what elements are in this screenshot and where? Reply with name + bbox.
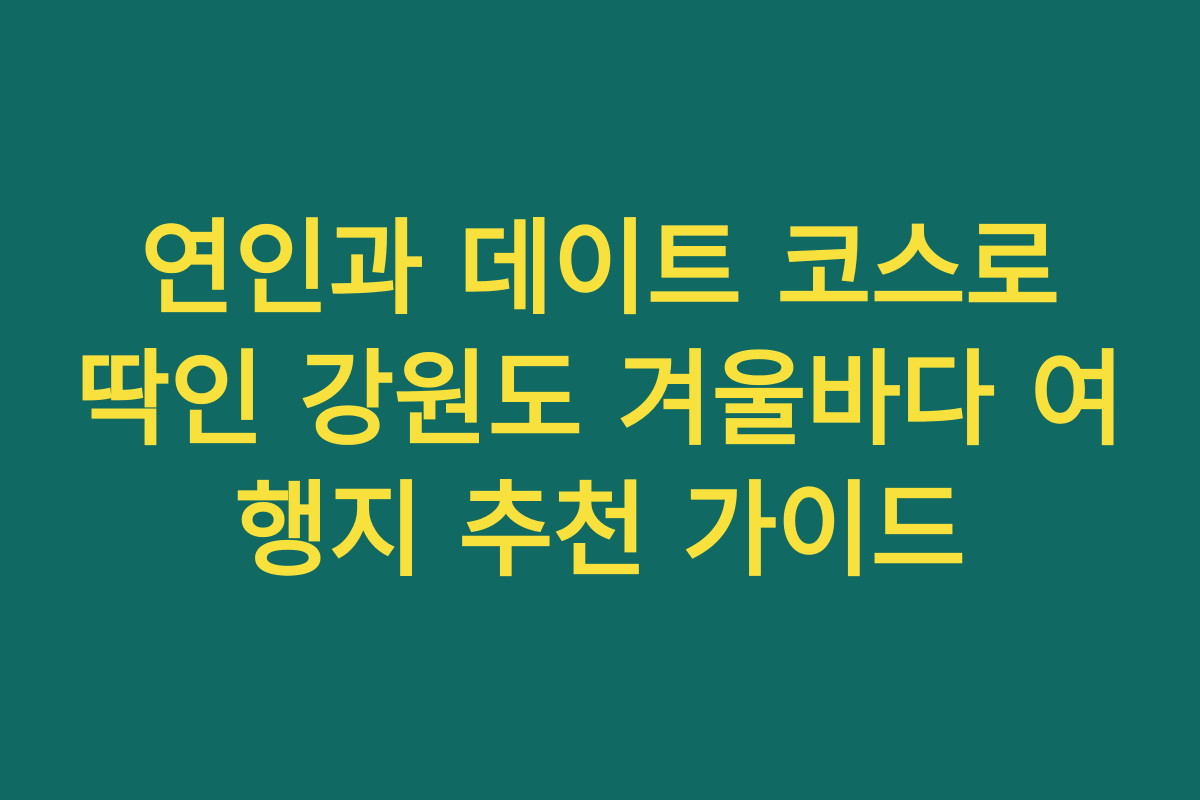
- headline-line-2: 딱인 강원도 겨울바다 여: [70, 335, 1130, 466]
- headline-line-3: 행지 추천 가이드: [70, 466, 1130, 597]
- headline-line-1: 연인과 데이트 코스로: [70, 204, 1130, 335]
- page-title: 연인과 데이트 코스로 딱인 강원도 겨울바다 여 행지 추천 가이드: [70, 204, 1130, 597]
- title-card: 연인과 데이트 코스로 딱인 강원도 겨울바다 여 행지 추천 가이드: [0, 0, 1200, 800]
